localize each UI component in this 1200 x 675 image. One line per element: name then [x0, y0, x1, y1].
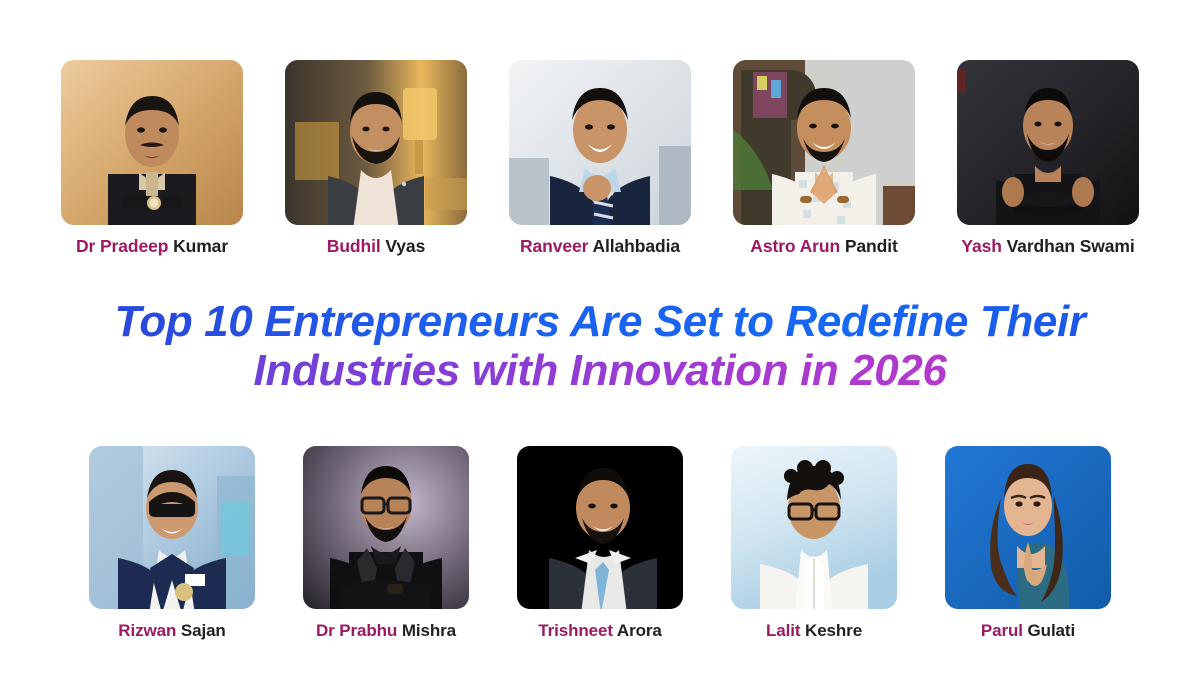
person-name-first: Astro Arun [750, 236, 845, 256]
person-name-last: Gulati [1028, 621, 1076, 640]
person-name-last: Allahbadia [592, 236, 680, 256]
portrait-photo [303, 446, 469, 609]
person-name: Rizwan Sajan [118, 621, 225, 641]
person-name-last: Kumar [173, 236, 228, 256]
person-card[interactable]: Dr Pradeep Kumar [61, 60, 243, 256]
person-name-last: Vardhan Swami [1007, 236, 1135, 256]
portrait-budhil-vyas-icon [285, 60, 467, 225]
person-card[interactable]: Trishneet Arora [517, 446, 683, 641]
person-name-first: Trishneet [538, 621, 617, 640]
person-card[interactable]: Rizwan Sajan [89, 446, 255, 641]
person-name-first: Rizwan [118, 621, 181, 640]
portrait-astro-arun-pandit-icon [733, 60, 915, 225]
top-row: Dr Pradeep Kumar [0, 60, 1200, 256]
poster-headline: Top 10 Entrepreneurs Are Set to Redefine… [0, 297, 1200, 396]
headline-line-2: Industries with Innovation in 2026 [0, 346, 1200, 395]
portrait-rizwan-sajan-icon [89, 446, 255, 609]
person-card[interactable]: Parul Gulati [945, 446, 1111, 641]
person-name: Budhil Vyas [327, 236, 425, 256]
portrait-ranveer-allahbadia-icon [509, 60, 691, 225]
portrait-photo [731, 446, 897, 609]
person-name-first: Lalit [766, 621, 805, 640]
person-name: Parul Gulati [981, 621, 1075, 641]
person-name: Dr Pradeep Kumar [76, 236, 228, 256]
person-name-first: Budhil [327, 236, 386, 256]
portrait-photo [509, 60, 691, 225]
person-name-first: Parul [981, 621, 1028, 640]
portrait-photo [733, 60, 915, 225]
person-card[interactable]: Budhil Vyas [285, 60, 467, 256]
bottom-row: Rizwan Sajan [0, 446, 1200, 641]
portrait-photo [957, 60, 1139, 225]
poster-canvas: Dr Pradeep Kumar [0, 0, 1200, 675]
person-name-last: Vyas [385, 236, 425, 256]
person-name-last: Pandit [845, 236, 898, 256]
portrait-dr-pradeep-kumar-icon [61, 60, 243, 225]
person-name: Dr Prabhu Mishra [316, 621, 456, 641]
person-name-last: Keshre [805, 621, 862, 640]
person-name: Yash Vardhan Swami [961, 236, 1134, 256]
portrait-photo [61, 60, 243, 225]
person-name: Lalit Keshre [766, 621, 862, 641]
portrait-dr-prabhu-mishra-icon [303, 446, 469, 609]
person-name-first: Ranveer [520, 236, 592, 256]
portrait-photo [945, 446, 1111, 609]
person-card[interactable]: Lalit Keshre [731, 446, 897, 641]
person-card[interactable]: Ranveer Allahbadia [509, 60, 691, 256]
person-name: Trishneet Arora [538, 621, 662, 641]
person-card[interactable]: Dr Prabhu Mishra [303, 446, 469, 641]
person-card[interactable]: Yash Vardhan Swami [957, 60, 1139, 256]
person-name-last: Sajan [181, 621, 226, 640]
person-card[interactable]: Astro Arun Pandit [733, 60, 915, 256]
person-name: Ranveer Allahbadia [520, 236, 680, 256]
headline-line-1: Top 10 Entrepreneurs Are Set to Redefine… [0, 297, 1200, 346]
person-name-first: Dr Prabhu [316, 621, 402, 640]
portrait-yash-vardhan-swami-icon [957, 60, 1139, 225]
portrait-trishneet-arora-icon [517, 446, 683, 609]
person-name-first: Dr Pradeep [76, 236, 173, 256]
portrait-photo [517, 446, 683, 609]
person-name-last: Mishra [402, 621, 456, 640]
person-name: Astro Arun Pandit [750, 236, 897, 256]
portrait-photo [285, 60, 467, 225]
portrait-photo [89, 446, 255, 609]
person-name-first: Yash [961, 236, 1006, 256]
portrait-parul-gulati-icon [945, 446, 1111, 609]
person-name-last: Arora [617, 621, 662, 640]
portrait-lalit-keshre-icon [731, 446, 897, 609]
